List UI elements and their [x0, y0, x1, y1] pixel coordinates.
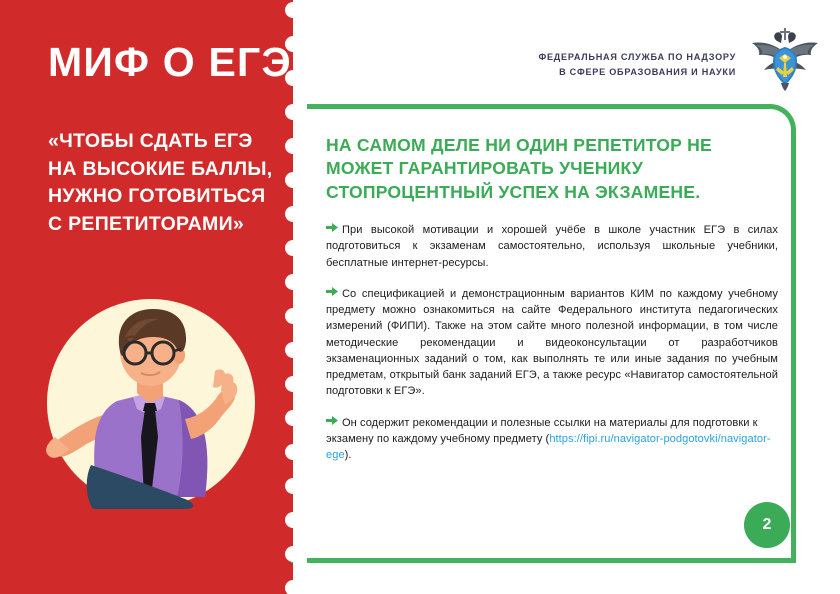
content-frame-right-edge [791, 130, 796, 558]
green-arrow-bullet-icon [326, 285, 342, 301]
lead-statement: НА САМОМ ДЕЛЕ НИ ОДИН РЕПЕТИТОР НЕ МОЖЕТ… [326, 134, 778, 204]
ticket-perforation-edge [272, 0, 304, 594]
bullet-item: Со спецификацией и демонстрационным вари… [326, 285, 778, 400]
agency-line-2: В СФЕРЕ ОБРАЗОВАНИЯ И НАУКИ [538, 65, 736, 80]
main-content: НА САМОМ ДЕЛЕ НИ ОДИН РЕПЕТИТОР НЕ МОЖЕТ… [326, 134, 778, 477]
green-arrow-bullet-icon [326, 221, 342, 237]
double-headed-eagle-emblem [748, 27, 822, 91]
agency-line-1: ФЕДЕРАЛЬНАЯ СЛУЖБА ПО НАДЗОРУ [538, 50, 736, 65]
shrugging-man-illustration [45, 297, 257, 509]
green-arrow-bullet-icon [326, 414, 342, 430]
bullet-text: Со спецификацией и демонстрационным вари… [326, 288, 778, 398]
page-title: МИФ О ЕГЭ [48, 42, 292, 83]
bullet-text-tail: ). [345, 449, 352, 461]
bullet-text: При высокой мотивации и хорошей учёбе в … [326, 224, 778, 269]
infographic-page: МИФ О ЕГЭ «ЧТОБЫ СДАТЬ ЕГЭ НА ВЫСОКИЕ БА… [0, 0, 840, 594]
agency-name: ФЕДЕРАЛЬНАЯ СЛУЖБА ПО НАДЗОРУ В СФЕРЕ ОБ… [538, 50, 736, 79]
page-number-badge: 2 [744, 502, 790, 548]
bullet-item: Он содержит рекомендации и полезные ссыл… [326, 414, 778, 464]
myth-quote-text: «ЧТОБЫ СДАТЬ ЕГЭ НА ВЫСОКИЕ БАЛЛЫ, НУЖНО… [48, 128, 273, 239]
bullet-item: При высокой мотивации и хорошей учёбе в … [326, 221, 778, 271]
